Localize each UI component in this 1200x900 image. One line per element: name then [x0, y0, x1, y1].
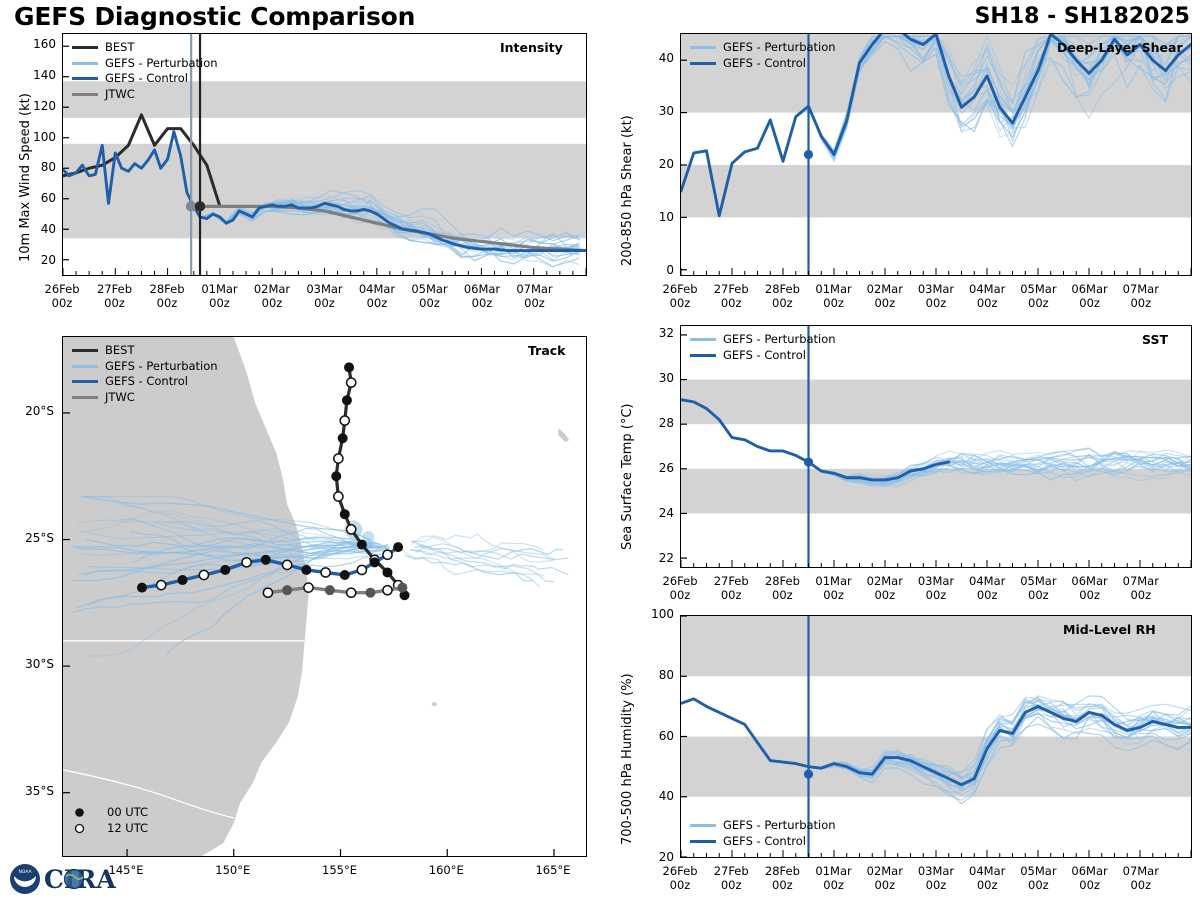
track-point-12utc — [347, 525, 356, 534]
legend-swatch-perturbation — [72, 62, 98, 65]
legend-swatch-control-track — [72, 380, 98, 383]
track-point-00utc — [397, 583, 407, 593]
legend-label-control: GEFS - Control — [105, 71, 188, 87]
map-y-tick-label: 35°S — [0, 784, 54, 798]
track-point-00utc — [220, 565, 230, 575]
track-point-12utc — [347, 588, 356, 597]
logo-group: NOAA CIRA — [8, 860, 128, 898]
y-tick-label: 26 — [620, 461, 674, 475]
y-tick-label: 140 — [2, 68, 56, 82]
track-point-00utc — [178, 575, 188, 585]
legend-label-jtwc: JTWC — [105, 87, 135, 103]
track-point-00utc — [365, 588, 375, 598]
map-y-tick-label: 20°S — [0, 404, 54, 418]
rh-y-axis-label: 700-500 hPa Humidity (%) — [620, 673, 635, 845]
y-tick-label: 10 — [620, 210, 674, 224]
y-tick-label: 100 — [620, 607, 674, 621]
track-legend: BEST GEFS - Perturbation GEFS - Control … — [72, 343, 218, 405]
legend-row-best: BEST — [72, 40, 218, 56]
legend-row-12utc: 12 UTC — [74, 821, 148, 837]
legend-swatch-jtwc-track — [72, 396, 98, 399]
legend-label-12utc: 12 UTC — [107, 821, 148, 837]
legend-row-00utc: 00 UTC — [74, 805, 148, 821]
track-point-00utc — [282, 585, 292, 595]
shear-y-axis-label: 200-850 hPa Shear (kt) — [620, 115, 635, 266]
legend-swatch-jtwc — [72, 93, 98, 96]
legend-row-best-track: BEST — [72, 343, 218, 359]
track-point-00utc — [301, 565, 311, 575]
track-map-area — [63, 337, 586, 856]
map-x-tick-label: 165°E — [513, 863, 593, 877]
track-point-00utc — [261, 555, 271, 565]
y-tick-label: 160 — [2, 37, 56, 51]
track-point-00utc — [382, 567, 392, 577]
track-point-12utc — [340, 416, 349, 425]
track-point-00utc — [344, 362, 354, 372]
track-point-00utc — [342, 395, 352, 405]
legend-row-jtwc-track: JTWC — [72, 390, 218, 406]
y-tick-label: 30 — [620, 371, 674, 385]
track-point-12utc — [304, 583, 313, 592]
legend-swatch-perturbation-shear — [690, 46, 716, 49]
storm-id-title: SH18 - SH182025 — [975, 4, 1190, 29]
track-marker-legend: 00 UTC 12 UTC — [74, 805, 148, 836]
page-title: GEFS Diagnostic Comparison — [14, 2, 415, 31]
y-tick-label: 28 — [620, 416, 674, 430]
x-tick-label: 07Mar 00z — [1101, 282, 1181, 311]
track-point-00utc — [393, 542, 403, 552]
legend-label-perturbation-rh: GEFS - Perturbation — [723, 818, 836, 834]
track-point-00utc — [340, 509, 350, 519]
track-point-00utc — [340, 570, 350, 580]
island — [558, 428, 569, 442]
intensity-panel-label: Intensity — [500, 40, 563, 55]
legend-label-perturbation-track: GEFS - Perturbation — [105, 359, 218, 375]
track-point-12utc — [357, 565, 366, 574]
track-point-00utc — [357, 540, 367, 550]
legend-row-perturbation-track: GEFS - Perturbation — [72, 359, 218, 375]
shear-panel-label: Deep-Layer Shear — [1057, 40, 1183, 55]
y-tick-label: 30 — [620, 104, 674, 118]
map-x-tick-label: 160°E — [406, 863, 486, 877]
y-tick-label: 20 — [620, 850, 674, 864]
island-small — [432, 702, 437, 706]
track-point-00utc — [331, 471, 341, 481]
map-y-tick-label: 30°S — [0, 657, 54, 671]
map-y-tick-label: 25°S — [0, 531, 54, 545]
x-tick-label: 07Mar 00z — [1101, 864, 1181, 893]
legend-row-perturbation: GEFS - Perturbation — [72, 56, 218, 72]
legend-row-perturbation-shear: GEFS - Perturbation — [690, 40, 836, 56]
legend-label-jtwc-track: JTWC — [105, 390, 135, 406]
shear-legend: GEFS - Perturbation GEFS - Control — [690, 40, 836, 71]
analysis-dot — [804, 770, 813, 779]
track-panel-label: Track — [528, 343, 565, 358]
legend-label-00utc: 00 UTC — [107, 805, 148, 821]
y-tick-label: 24 — [620, 506, 674, 520]
legend-row-control-shear: GEFS - Control — [690, 56, 836, 72]
y-tick-label: 100 — [2, 130, 56, 144]
rh-legend: GEFS - Perturbation GEFS - Control — [690, 818, 836, 849]
map-x-tick-label: 155°E — [300, 863, 380, 877]
track-point-12utc — [242, 558, 251, 567]
legend-row-perturbation-sst: GEFS - Perturbation — [690, 332, 836, 348]
x-tick-label: 07Mar 00z — [1101, 574, 1181, 603]
map-x-tick-label: 150°E — [193, 863, 273, 877]
legend-row-control-track: GEFS - Control — [72, 374, 218, 390]
legend-swatch-control-sst — [690, 354, 716, 357]
y-tick-label: 0 — [620, 263, 674, 277]
legend-row-jtwc: JTWC — [72, 87, 218, 103]
track-point-12utc — [283, 560, 292, 569]
jtwc-analysis-dot — [186, 201, 196, 211]
track-point-12utc — [199, 570, 208, 579]
legend-swatch-control — [72, 77, 98, 80]
legend-row-control-rh: GEFS - Control — [690, 834, 836, 850]
track-point-12utc — [263, 588, 272, 597]
legend-label-control-track: GEFS - Control — [105, 374, 188, 390]
legend-swatch-best-track — [72, 349, 98, 352]
legend-swatch-perturbation-rh — [690, 824, 716, 827]
y-tick-label: 60 — [2, 191, 56, 205]
y-tick-label: 20 — [2, 253, 56, 267]
sst-panel-label: SST — [1142, 332, 1168, 347]
intensity-legend: BEST GEFS - Perturbation GEFS - Control … — [72, 40, 218, 102]
y-tick-label: 40 — [2, 222, 56, 236]
track-point-12utc — [334, 454, 343, 463]
svg-text:NOAA: NOAA — [18, 869, 32, 875]
track-point-00utc — [370, 557, 380, 567]
y-tick-label: 20 — [620, 157, 674, 171]
legend-row-control: GEFS - Control — [72, 71, 218, 87]
y-tick-label: 40 — [620, 51, 674, 65]
legend-label-control-rh: GEFS - Control — [723, 834, 806, 850]
track-point-00utc — [338, 433, 348, 443]
track-point-12utc — [334, 492, 343, 501]
legend-label-best: BEST — [105, 40, 134, 56]
legend-swatch-control-rh — [690, 840, 716, 843]
y-tick-label: 32 — [620, 326, 674, 340]
y-tick-label: 22 — [620, 551, 674, 565]
legend-label-perturbation: GEFS - Perturbation — [105, 56, 218, 72]
legend-label-control-sst: GEFS - Control — [723, 348, 806, 364]
track-point-12utc — [157, 581, 166, 590]
legend-label-perturbation-shear: GEFS - Perturbation — [723, 40, 836, 56]
legend-row-perturbation-rh: GEFS - Perturbation — [690, 818, 836, 834]
track-point-12utc — [383, 550, 392, 559]
legend-swatch-perturbation-track — [72, 365, 98, 368]
open-circle-icon — [74, 823, 100, 834]
legend-row-control-sst: GEFS - Control — [690, 348, 836, 364]
y-tick-label: 80 — [620, 668, 674, 682]
y-tick-label: 80 — [2, 160, 56, 174]
best-analysis-dot — [195, 201, 205, 211]
analysis-dot — [804, 458, 813, 467]
y-tick-label: 40 — [620, 789, 674, 803]
figure-canvas: GEFS Diagnostic Comparison SH18 - SH1820… — [0, 0, 1200, 900]
track-point-12utc — [321, 568, 330, 577]
legend-swatch-control-shear — [690, 62, 716, 65]
analysis-dot — [804, 150, 813, 159]
y-tick-label: 120 — [2, 99, 56, 113]
track-point-12utc — [347, 378, 356, 387]
x-tick-label: 07Mar 00z — [495, 282, 575, 311]
track-point-00utc — [137, 583, 147, 593]
legend-label-control-shear: GEFS - Control — [723, 56, 806, 72]
legend-label-best-track: BEST — [105, 343, 134, 359]
rh-panel-label: Mid-Level RH — [1063, 622, 1156, 637]
legend-swatch-best — [72, 46, 98, 49]
track-point-12utc — [383, 586, 392, 595]
intensity-y-axis-label: 10m Max Wind Speed (kt) — [18, 93, 33, 262]
panel-track — [62, 336, 587, 857]
legend-label-perturbation-sst: GEFS - Perturbation — [723, 332, 836, 348]
sst-legend: GEFS - Perturbation GEFS - Control — [690, 332, 836, 363]
filled-circle-icon — [74, 807, 100, 818]
y-tick-label: 60 — [620, 729, 674, 743]
legend-swatch-perturbation-sst — [690, 338, 716, 341]
noaa-cira-logo: NOAA CIRA — [8, 860, 128, 898]
track-point-00utc — [325, 585, 335, 595]
